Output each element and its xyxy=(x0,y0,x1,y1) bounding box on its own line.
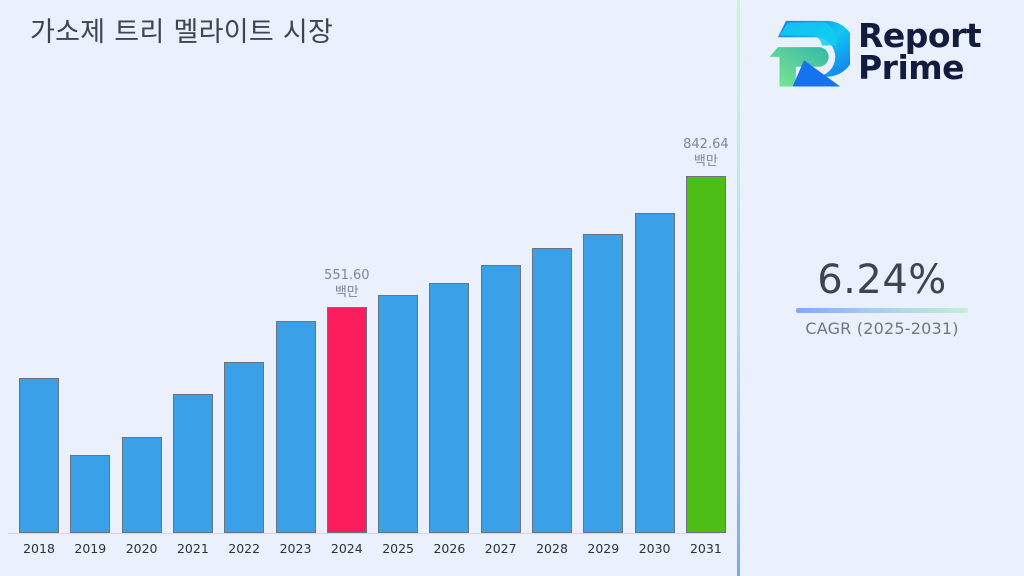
x-tick-2019: 2019 xyxy=(70,541,110,556)
bar-2030[interactable] xyxy=(635,120,675,533)
x-tick-2018: 2018 xyxy=(19,541,59,556)
bar-2028[interactable] xyxy=(532,120,572,533)
chart-panel: 가소제 트리 멜라이트 시장 551.60백만842.64백만 20182019… xyxy=(0,0,738,576)
cagr-value: 6.24% xyxy=(740,256,1024,304)
bar-rect-2026[interactable] xyxy=(429,283,469,533)
x-tick-2023: 2023 xyxy=(276,541,316,556)
bar-2029[interactable] xyxy=(583,120,623,533)
bar-rect-2028[interactable] xyxy=(532,248,572,533)
x-axis-line xyxy=(8,533,720,534)
right-panel: Report Prime 6.24% CAGR (2025-2031) xyxy=(740,0,1024,576)
bar-rect-2030[interactable] xyxy=(635,213,675,533)
x-tick-2025: 2025 xyxy=(378,541,418,556)
cagr-caption: CAGR (2025-2031) xyxy=(740,319,1024,338)
bar-value-unit-2024: 백만 xyxy=(324,284,370,301)
chart-title: 가소제 트리 멜라이트 시장 xyxy=(30,10,333,49)
bar-rect-2023[interactable] xyxy=(276,321,316,533)
bar-rect-2031[interactable] xyxy=(686,176,726,533)
bar-rect-2022[interactable] xyxy=(224,362,264,533)
brand-logo-text: Report Prime xyxy=(858,20,981,85)
cagr-divider-rule xyxy=(796,308,968,313)
bar-2026[interactable] xyxy=(429,120,469,533)
bar-value-number-2031: 842.64 xyxy=(683,136,729,153)
bar-rect-2021[interactable] xyxy=(173,394,213,533)
bar-chart-plot: 551.60백만842.64백만 xyxy=(0,120,738,533)
bar-value-label-2024: 551.60백만 xyxy=(324,267,370,301)
x-tick-2022: 2022 xyxy=(224,541,264,556)
report-prime-logo-mark xyxy=(768,14,850,90)
x-tick-2027: 2027 xyxy=(481,541,521,556)
x-tick-2021: 2021 xyxy=(173,541,213,556)
bar-rect-2018[interactable] xyxy=(19,378,59,533)
bar-2021[interactable] xyxy=(173,120,213,533)
bar-2022[interactable] xyxy=(224,120,264,533)
bar-rect-2025[interactable] xyxy=(378,295,418,533)
brand-logo: Report Prime xyxy=(768,8,1008,96)
bar-rect-2019[interactable] xyxy=(70,455,110,533)
bar-2031[interactable]: 842.64백만 xyxy=(686,120,726,533)
bar-rect-2027[interactable] xyxy=(481,265,521,533)
x-tick-2030: 2030 xyxy=(635,541,675,556)
bar-rect-2024[interactable] xyxy=(327,307,367,533)
bar-2023[interactable] xyxy=(276,120,316,533)
cagr-block: 6.24% CAGR (2025-2031) xyxy=(740,256,1024,338)
x-tick-2029: 2029 xyxy=(583,541,623,556)
bar-rect-2020[interactable] xyxy=(122,437,162,533)
bar-2027[interactable] xyxy=(481,120,521,533)
x-tick-2020: 2020 xyxy=(122,541,162,556)
x-tick-2031: 2031 xyxy=(686,541,726,556)
report-slide: 가소제 트리 멜라이트 시장 551.60백만842.64백만 20182019… xyxy=(0,0,1024,576)
bar-rect-2029[interactable] xyxy=(583,234,623,533)
bar-2019[interactable] xyxy=(70,120,110,533)
bar-value-unit-2031: 백만 xyxy=(683,153,729,170)
bar-2020[interactable] xyxy=(122,120,162,533)
x-tick-2028: 2028 xyxy=(532,541,572,556)
x-tick-2024: 2024 xyxy=(327,541,367,556)
brand-logo-line2: Prime xyxy=(858,52,981,84)
bar-value-number-2024: 551.60 xyxy=(324,267,370,284)
bar-2018[interactable] xyxy=(19,120,59,533)
bar-2024[interactable]: 551.60백만 xyxy=(327,120,367,533)
x-tick-2026: 2026 xyxy=(429,541,469,556)
bar-value-label-2031: 842.64백만 xyxy=(683,136,729,170)
bar-2025[interactable] xyxy=(378,120,418,533)
